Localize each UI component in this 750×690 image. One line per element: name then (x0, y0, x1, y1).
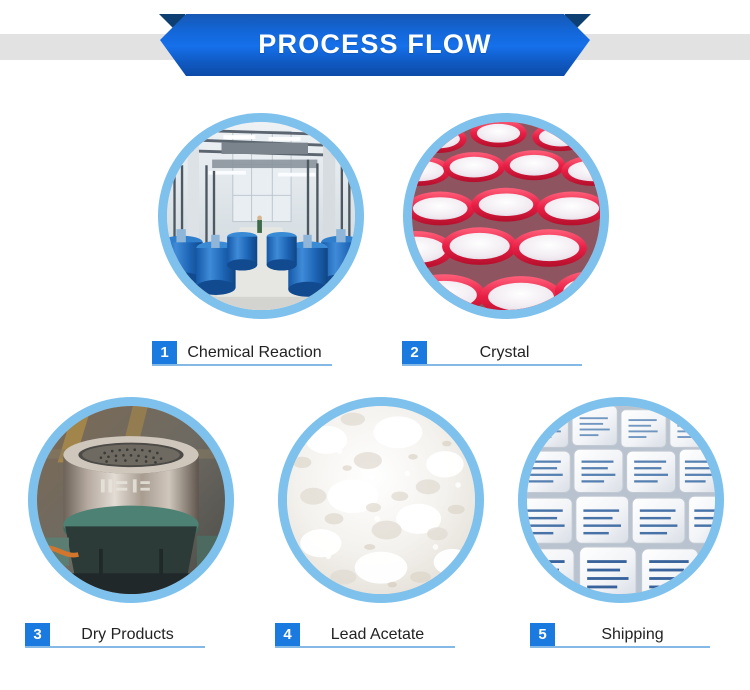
step-3-underline (25, 646, 205, 648)
packaged-bags-illustration (527, 406, 715, 594)
step-3-label-text: Dry Products (50, 623, 205, 646)
shipping-photo (518, 397, 724, 603)
step-2-label: 2 Crystal (402, 341, 582, 373)
step-1-label-text: Chemical Reaction (177, 341, 332, 364)
step-3-label: 3 Dry Products (25, 623, 205, 655)
step-5-label-text: Shipping (555, 623, 710, 646)
crystal-image (412, 122, 600, 310)
step-2-badge: 2 (402, 341, 427, 364)
step-5-label: 5 Shipping (530, 623, 710, 655)
step-2-label-text: Crystal (427, 341, 582, 364)
centrifuge-illustration (37, 406, 225, 594)
step-4-label-text: Lead Acetate (300, 623, 455, 646)
page-header: PROCESS FLOW (0, 0, 750, 100)
step-1-underline (152, 364, 332, 366)
crystal-photo (403, 113, 609, 319)
crystal-basins-illustration (412, 122, 600, 310)
dry-products-image (37, 406, 225, 594)
step-1-badge: 1 (152, 341, 177, 364)
chemical-reaction-image (167, 122, 355, 310)
page-title: PROCESS FLOW (258, 31, 491, 59)
lead-acetate-photo (278, 397, 484, 603)
step-4-underline (275, 646, 455, 648)
step-3-badge: 3 (25, 623, 50, 646)
factory-illustration (167, 122, 355, 310)
lead-acetate-image (287, 406, 475, 594)
step-5-underline (530, 646, 710, 648)
step-2-underline (402, 364, 582, 366)
step-4-label: 4 Lead Acetate (275, 623, 455, 655)
step-1-label: 1 Chemical Reaction (152, 341, 332, 373)
step-5-badge: 5 (530, 623, 555, 646)
ribbon-body: PROCESS FLOW (160, 14, 590, 76)
process-flow-page: PROCESS FLOW (0, 0, 750, 690)
dry-products-photo (28, 397, 234, 603)
step-4-badge: 4 (275, 623, 300, 646)
shipping-image (527, 406, 715, 594)
chemical-reaction-photo (158, 113, 364, 319)
white-powder-illustration (287, 406, 475, 594)
header-ribbon: PROCESS FLOW (160, 14, 590, 76)
